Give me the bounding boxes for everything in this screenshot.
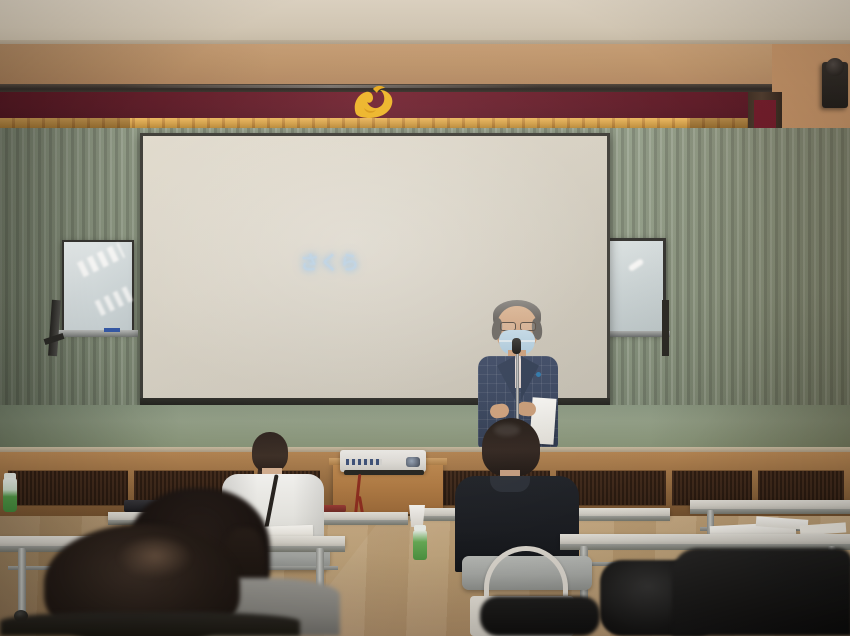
- foreground-attendee-shoulder: [0, 612, 300, 636]
- attendee-b-collar: [490, 476, 530, 492]
- table-edge: [690, 509, 850, 514]
- attendee-b-hair-highlight: [494, 424, 520, 436]
- foreground-attendee-scalp: [118, 538, 192, 578]
- presenter-hand-right: [516, 401, 536, 417]
- whiteboard-left-tray: [58, 330, 138, 337]
- green-tea-bottle: [413, 530, 427, 560]
- projector-base: [344, 470, 424, 475]
- stage-floor-shadow-left: [0, 405, 180, 451]
- school-crest-icon: [340, 80, 404, 122]
- rail-highlight: [120, 85, 540, 88]
- green-tea-bottle: [3, 478, 17, 512]
- curtain-shadow-right: [640, 128, 850, 428]
- whiteboard-right-tray: [600, 331, 670, 337]
- speaker-cone-icon: [826, 58, 844, 76]
- projected-slide-text: さくら: [300, 248, 430, 274]
- stage-floor-shadow-right: [650, 405, 850, 451]
- paper-cup: [409, 505, 425, 527]
- whiteboard-right: [607, 241, 663, 331]
- microphone-icon: [512, 338, 521, 354]
- proscenium-shadow: [0, 44, 270, 88]
- projector-lens-icon: [406, 457, 420, 467]
- whiteboard-right-leg: [662, 300, 669, 356]
- foreground-attendee-coat: [672, 548, 850, 636]
- attendee-a-hair: [252, 432, 288, 472]
- table-leg: [18, 548, 26, 614]
- presenter-lapel-pin: [536, 372, 541, 377]
- whiteboard-marker: [104, 328, 120, 332]
- projector-control-panel: [346, 459, 382, 465]
- foreground-black-bag: [480, 596, 600, 636]
- auditorium-photo: さくら: [0, 0, 850, 636]
